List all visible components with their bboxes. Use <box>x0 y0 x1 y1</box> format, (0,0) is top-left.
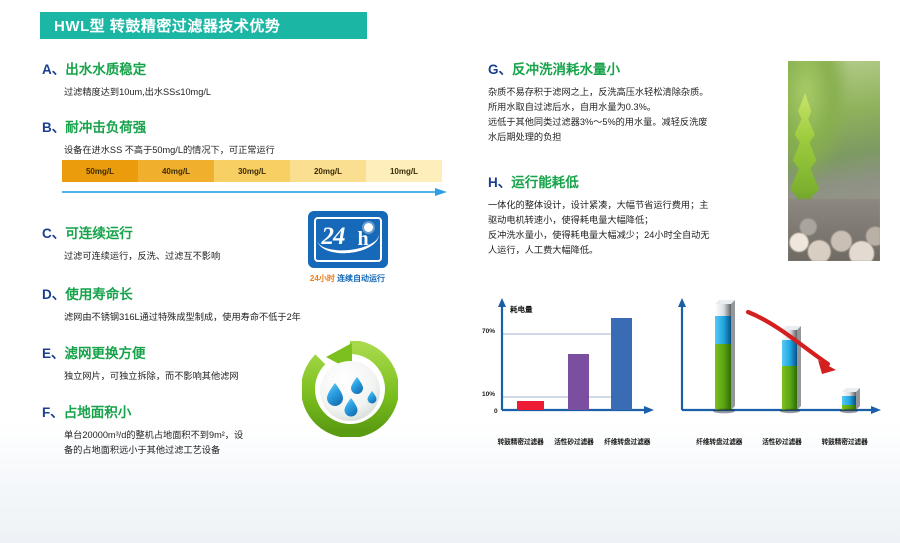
chart-1-ytick-10: 10% <box>482 391 495 398</box>
plant-stones-photo <box>788 61 880 261</box>
section-h-title: 运行能耗低 <box>511 175 579 190</box>
chart-1-category-labels: 转鼓精密过滤器 活性砂过滤器 纤维转盘过滤器 <box>494 436 654 446</box>
scale-segment-30: 30mg/L <box>214 160 290 182</box>
page-title-bar: HWL型 转鼓精密过滤器技术优势 <box>40 12 367 39</box>
section-h-body: 一体化的整体设计，设计紧凑，大幅节省运行费用；主 驱动电机转速小，使得耗电量大幅… <box>488 198 778 258</box>
section-a-title: 出水水质稳定 <box>65 62 146 77</box>
section-c: C、可连续运行 过滤可连续运行，反洗、过滤互不影响 <box>42 226 342 264</box>
24h-logo-frame: 24 h <box>314 217 382 262</box>
section-b-body: 设备在进水SS 不高于50mg/L的情况下，可正常运行 <box>42 143 382 158</box>
chart-cost-breakdown: 纤维转盘过滤器 活性砂过滤器 转鼓精密过滤器 水耗 <box>670 296 890 446</box>
section-f-heading: F、占地面积小 <box>42 405 342 421</box>
section-g: G、反冲洗消耗水量小 杂质不易存积于滤网之上，反洗高压水轻松清除杂质。 所用水取… <box>488 62 778 145</box>
scale-segment-50: 50mg/L <box>62 160 138 182</box>
section-e: E、滤网更换方便 独立网片，可独立拆除，而不影响其他滤网 <box>42 346 342 384</box>
section-e-letter: E、 <box>42 346 65 361</box>
section-f-letter: F、 <box>42 405 64 420</box>
page-title: HWL型 转鼓精密过滤器技术优势 <box>40 15 280 36</box>
section-f: F、占地面积小 单台20000m³/d的整机占地面积不到9m²，设 备的占地面积… <box>42 405 342 458</box>
photo-stones <box>788 199 880 261</box>
section-a: A、出水水质稳定 过滤精度达到10um,出水SS≤10mg/L <box>42 62 362 100</box>
section-g-body: 杂质不易存积于滤网之上，反洗高压水轻松清除杂质。 所用水取自过滤后水，自用水量为… <box>488 85 778 145</box>
24h-logo-caption: 24小时 连续自动运行 <box>300 273 395 284</box>
24h-caption-hours: 24小时 <box>310 274 335 283</box>
concentration-scale: 50mg/L 40mg/L 30mg/L 20mg/L 10mg/L <box>62 160 457 196</box>
section-c-title: 可连续运行 <box>65 226 133 241</box>
section-e-title: 滤网更换方便 <box>65 346 146 361</box>
section-b-heading: B、耐冲击负荷强 <box>42 120 382 136</box>
section-e-body: 独立网片，可独立拆除，而不影响其他滤网 <box>42 369 342 384</box>
scale-segment-10: 10mg/L <box>366 160 442 182</box>
section-c-body: 过滤可连续运行，反洗、过滤互不影响 <box>42 249 342 264</box>
chart-2-cat-2: 活性砂过滤器 <box>751 436 814 446</box>
24h-logo-suffix: h <box>358 228 369 251</box>
24h-continuous-logo: 24 h 24小时 连续自动运行 <box>300 211 395 284</box>
section-a-heading: A、出水水质稳定 <box>42 62 362 78</box>
chart-1-canvas <box>480 296 660 428</box>
bar-1 <box>517 401 544 410</box>
bar-3 <box>611 318 632 410</box>
section-d: D、使用寿命长 滤网由不锈钢316L通过特殊成型制成，使用寿命不低于2年 <box>42 287 382 325</box>
24h-logo-box: 24 h <box>308 211 388 268</box>
chart-1-ytick-70: 70% <box>482 328 495 335</box>
scale-segments: 50mg/L 40mg/L 30mg/L 20mg/L 10mg/L <box>62 160 442 182</box>
section-d-letter: D、 <box>42 287 65 302</box>
section-h-letter: H、 <box>488 175 511 190</box>
charts-area: 10% 70% 0 耗电量 转鼓精密过滤器 活性砂过滤器 纤维转盘过滤器 <box>480 296 890 446</box>
section-g-title: 反冲洗消耗水量小 <box>512 62 620 77</box>
section-c-letter: C、 <box>42 226 65 241</box>
scale-segment-20: 20mg/L <box>290 160 366 182</box>
chart-2-cat-3: 转鼓精密过滤器 <box>813 436 876 446</box>
section-h: H、运行能耗低 一体化的整体设计，设计紧凑，大幅节省运行费用；主 驱动电机转速小… <box>488 175 778 258</box>
24h-caption-auto: 连续自动运行 <box>337 274 385 283</box>
section-d-body: 滤网由不锈钢316L通过特殊成型制成，使用寿命不低于2年 <box>42 310 382 325</box>
section-h-heading: H、运行能耗低 <box>488 175 778 191</box>
stacked-bar-1 <box>713 300 735 413</box>
chart-2-canvas <box>670 296 890 428</box>
section-d-title: 使用寿命长 <box>65 287 133 302</box>
section-a-body: 过滤精度达到10um,出水SS≤10mg/L <box>42 85 362 100</box>
scale-arrow <box>62 188 454 196</box>
slide-canvas: HWL型 转鼓精密过滤器技术优势 A、出水水质稳定 过滤精度达到10um,出水S… <box>0 0 900 543</box>
section-a-letter: A、 <box>42 62 65 77</box>
chart-1-ytick-0: 0 <box>494 408 498 415</box>
scale-segment-40: 40mg/L <box>138 160 214 182</box>
section-g-letter: G、 <box>488 62 512 77</box>
section-b: B、耐冲击负荷强 设备在进水SS 不高于50mg/L的情况下，可正常运行 <box>42 120 382 158</box>
section-f-body: 单台20000m³/d的整机占地面积不到9m²，设 备的占地面积远小于其他过滤工… <box>42 428 342 458</box>
chart-1-cat-3: 纤维转盘过滤器 <box>601 436 654 446</box>
section-g-heading: G、反冲洗消耗水量小 <box>488 62 778 78</box>
chart-2-cat-1: 纤维转盘过滤器 <box>688 436 751 446</box>
chart-1-cat-2: 活性砂过滤器 <box>547 436 600 446</box>
section-c-heading: C、可连续运行 <box>42 226 342 242</box>
section-e-heading: E、滤网更换方便 <box>42 346 342 362</box>
bar-2 <box>568 354 589 410</box>
chart-power-consumption: 10% 70% 0 耗电量 转鼓精密过滤器 活性砂过滤器 纤维转盘过滤器 <box>480 296 660 446</box>
section-d-heading: D、使用寿命长 <box>42 287 382 303</box>
chart-1-ylabel: 耗电量 <box>510 304 533 315</box>
scale-arrow-line <box>62 191 437 193</box>
chart-2-category-labels: 纤维转盘过滤器 活性砂过滤器 转鼓精密过滤器 <box>688 436 876 446</box>
section-b-letter: B、 <box>42 120 65 135</box>
section-b-title: 耐冲击负荷强 <box>65 120 146 135</box>
scale-arrow-head-icon <box>435 188 447 196</box>
section-f-title: 占地面积小 <box>64 405 132 420</box>
chart-1-cat-1: 转鼓精密过滤器 <box>494 436 547 446</box>
